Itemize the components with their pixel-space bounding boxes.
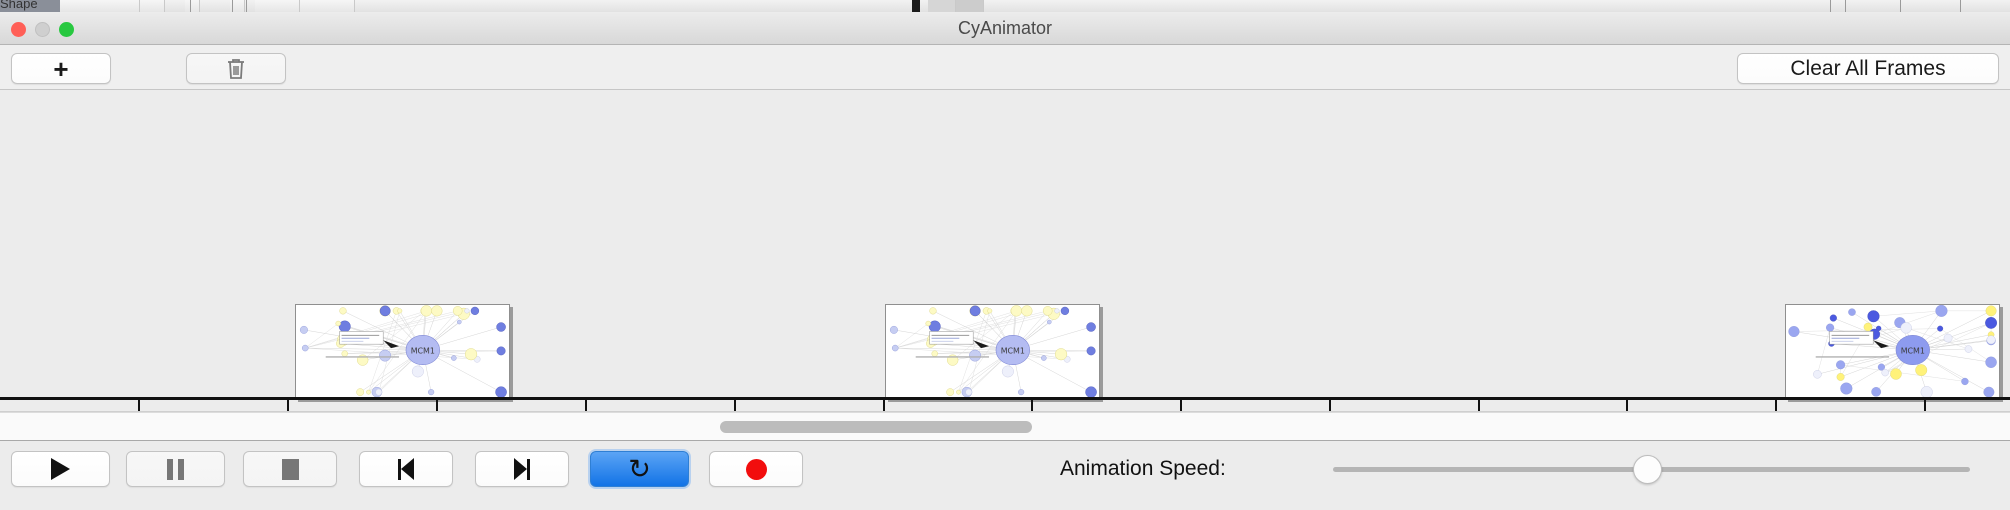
- loop-button[interactable]: ↻: [590, 451, 689, 487]
- background-window-label: Shape: [0, 0, 38, 11]
- previous-frame-button[interactable]: [359, 451, 453, 487]
- add-frame-button[interactable]: +: [11, 53, 111, 84]
- play-icon: [51, 458, 70, 480]
- timeline-tick: [1180, 400, 1182, 412]
- svg-text:MCM1: MCM1: [411, 346, 435, 355]
- timeline-tick: [1478, 400, 1480, 412]
- cyanimator-window: Shape CyAnimator +: [0, 0, 2010, 510]
- timeline-scrollbar[interactable]: [0, 412, 2010, 440]
- frame-toolbar: + Clear All Frames: [0, 45, 2010, 90]
- skip-back-icon: [398, 458, 414, 480]
- timeline-panel[interactable]: MCM1MCM1MCM1 2131415161718 Seconds: [0, 90, 2010, 412]
- timeline-tick: [287, 400, 289, 412]
- timeline-tick: [734, 400, 736, 411]
- frame-thumbnail-1[interactable]: MCM1: [295, 304, 510, 399]
- window-title: CyAnimator: [0, 12, 2010, 45]
- play-button[interactable]: [11, 451, 110, 487]
- delete-frame-button[interactable]: [186, 53, 286, 84]
- plus-icon: +: [53, 56, 68, 82]
- record-button[interactable]: [709, 451, 803, 487]
- background-window-strip: Shape: [0, 0, 2010, 12]
- animation-speed-label: Animation Speed:: [1060, 451, 1226, 487]
- clear-all-frames-button[interactable]: Clear All Frames: [1737, 53, 1999, 84]
- timeline-tick: [1924, 400, 1926, 411]
- frame-thumbnail-3[interactable]: MCM1: [1785, 304, 2000, 399]
- pause-icon: [167, 459, 184, 480]
- skip-forward-icon: [514, 458, 530, 480]
- next-frame-button[interactable]: [475, 451, 569, 487]
- animation-speed-slider[interactable]: [1333, 451, 1970, 487]
- stop-icon: [282, 459, 299, 480]
- clear-all-frames-label: Clear All Frames: [1790, 57, 1945, 81]
- slider-thumb[interactable]: [1633, 455, 1662, 484]
- stop-button[interactable]: [243, 451, 337, 487]
- timeline-tick: [1031, 400, 1033, 411]
- timeline-tick: [1775, 400, 1777, 412]
- svg-text:MCM1: MCM1: [1901, 346, 1925, 355]
- svg-text:MCM1: MCM1: [1001, 346, 1025, 355]
- timeline-tick: [138, 400, 140, 411]
- timeline-tick: [436, 400, 438, 411]
- playback-control-bar: ↻ Animation Speed:: [0, 440, 2010, 510]
- record-icon: [746, 459, 767, 480]
- title-bar: CyAnimator: [0, 12, 2010, 45]
- trash-icon: [225, 57, 247, 81]
- timeline-scrollbar-thumb[interactable]: [720, 421, 1032, 433]
- loop-icon: ↻: [628, 456, 651, 483]
- timeline-axis-line: [0, 397, 2010, 400]
- timeline-tick: [883, 400, 885, 412]
- timeline-tick: [585, 400, 587, 412]
- timeline-tick: [1626, 400, 1628, 411]
- pause-button[interactable]: [126, 451, 225, 487]
- frame-thumbnail-2[interactable]: MCM1: [885, 304, 1100, 399]
- timeline-tick: [1329, 400, 1331, 411]
